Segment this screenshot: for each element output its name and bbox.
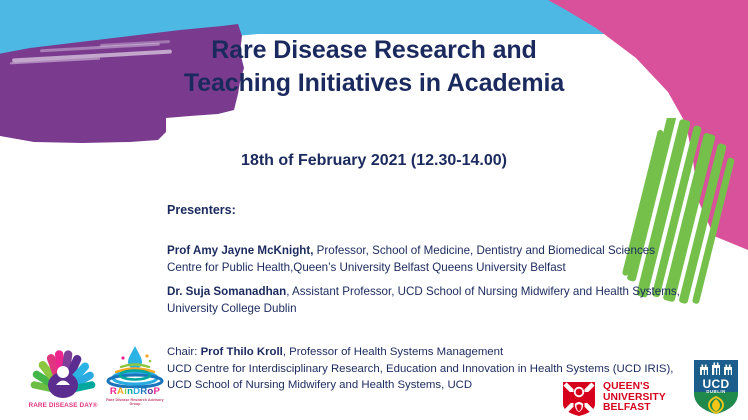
presenters-list: Prof Amy Jayne McKnight, Professor, Scho… [167,243,687,325]
queens-university-belfast-logo: QUEEN'S UNIVERSITY BELFAST [560,378,685,418]
presenter-name: Dr. Suja Somanadhan [167,285,286,298]
rare-disease-day-wordmark: RARE DISEASE DAY® [26,402,100,409]
title-line-2: Teaching Initiatives in Academia [0,67,748,100]
presenters-label: Presenters: [167,203,236,217]
raindrop-water-icon [103,344,167,388]
chair-line-2: UCD Centre for Interdisciplinary Researc… [167,361,697,378]
list-item: Prof Amy Jayne McKnight, Professor, Scho… [167,243,687,276]
list-item: Dr. Suja Somanadhan, Assistant Professor… [167,284,687,317]
raindrop-wordmark: RAinDRoP [103,386,167,397]
qub-line-3: BELFAST [603,403,666,414]
raindrop-tagline: Rare Disease Research Advisory Group [103,398,167,406]
qub-wordmark: QUEEN'S UNIVERSITY BELFAST [603,382,666,414]
chair-name: Prof Thilo Kroll [201,346,283,358]
title-line-1: Rare Disease Research and [211,36,536,64]
chair-prefix: Chair: [167,346,201,358]
ucd-sublabel: DUBLIN [692,389,740,394]
ucd-logo: UCD DUBLIN [692,358,740,416]
page-title: Rare Disease Research and Teaching Initi… [0,34,748,100]
rare-disease-day-hands-icon [26,341,100,399]
qub-crest-icon [560,379,598,417]
chair-line-1: Chair: Prof Thilo Kroll, Professor of He… [167,344,697,361]
raindrop-logo: RAinDRoP Rare Disease Research Advisory … [103,344,167,410]
event-datetime: 18th of February 2021 (12.30-14.00) [0,152,748,170]
poster-canvas: Rare Disease Research and Teaching Initi… [0,0,748,420]
chair-role: , Professor of Health Systems Management [283,346,503,358]
presenter-name: Prof Amy Jayne McKnight, [167,244,313,257]
rare-disease-day-logo: RARE DISEASE DAY® [26,341,100,411]
